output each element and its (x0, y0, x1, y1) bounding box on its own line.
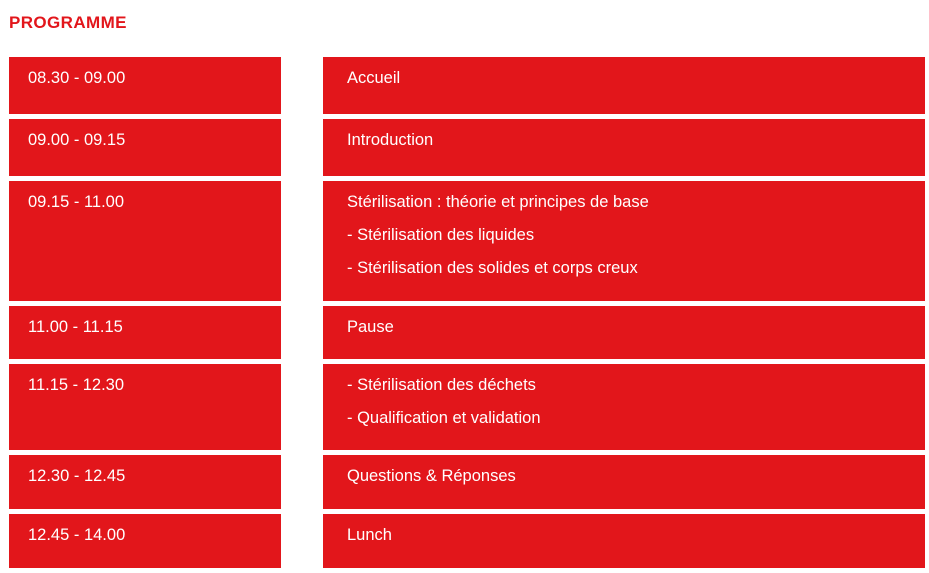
time-slot-cell: 08.30 - 09.00 (9, 57, 281, 114)
programme-page: PROGRAMME 08.30 - 09.00 Accueil 09.00 - … (0, 0, 929, 561)
activity-line: Accueil (347, 62, 925, 95)
activity-cell: Accueil (323, 57, 925, 114)
activity-line: Introduction (347, 124, 925, 157)
activity-cell: Lunch (323, 514, 925, 568)
time-slot-cell: 12.45 - 14.00 (9, 514, 281, 568)
time-slot-cell: 11.15 - 12.30 (9, 364, 281, 450)
time-slot-cell: 11.00 - 11.15 (9, 306, 281, 359)
activity-line: - Qualification et validation (347, 402, 925, 435)
table-row: 09.00 - 09.15 Introduction (0, 119, 929, 176)
activity-cell: Introduction (323, 119, 925, 176)
table-row: 08.30 - 09.00 Accueil (0, 57, 929, 114)
page-title: PROGRAMME (9, 12, 127, 34)
table-row: 12.30 - 12.45 Questions & Réponses (0, 455, 929, 509)
activity-cell: Questions & Réponses (323, 455, 925, 509)
activity-line: Questions & Réponses (347, 460, 925, 493)
activity-line: Pause (347, 311, 925, 344)
schedule-table: 08.30 - 09.00 Accueil 09.00 - 09.15 Intr… (0, 57, 929, 573)
time-slot-cell: 12.30 - 12.45 (9, 455, 281, 509)
activity-cell: - Stérilisation des déchets - Qualificat… (323, 364, 925, 450)
activity-line: Stérilisation : théorie et principes de … (347, 186, 925, 219)
activity-line: Lunch (347, 519, 925, 552)
time-slot-cell: 09.15 - 11.00 (9, 181, 281, 301)
table-row: 11.15 - 12.30 - Stérilisation des déchet… (0, 364, 929, 450)
activity-cell: Stérilisation : théorie et principes de … (323, 181, 925, 301)
table-row: 09.15 - 11.00 Stérilisation : théorie et… (0, 181, 929, 301)
activity-cell: Pause (323, 306, 925, 359)
table-row: 12.45 - 14.00 Lunch (0, 514, 929, 568)
activity-line: - Stérilisation des déchets (347, 369, 925, 402)
activity-line: - Stérilisation des liquides (347, 219, 925, 252)
time-slot-cell: 09.00 - 09.15 (9, 119, 281, 176)
table-row: 11.00 - 11.15 Pause (0, 306, 929, 359)
activity-line: - Stérilisation des solides et corps cre… (347, 252, 925, 285)
